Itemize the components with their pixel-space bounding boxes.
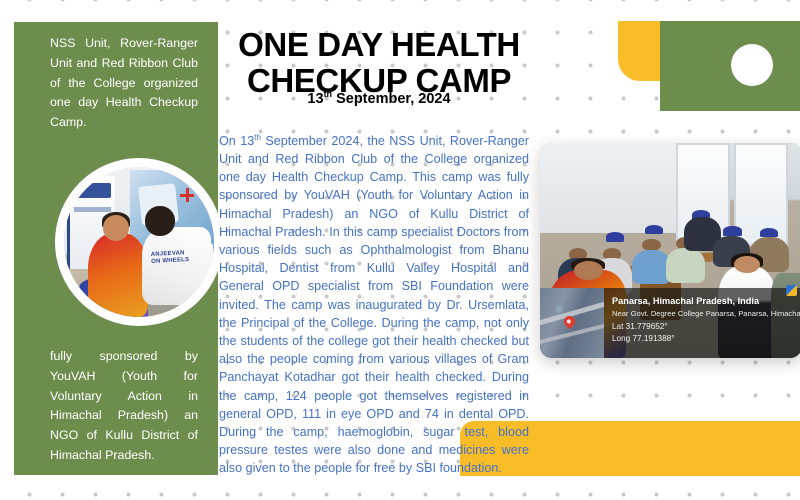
sidebar-summary-top: NSS Unit, Rover-Ranger Unit and Red Ribb…	[50, 34, 198, 133]
photo-person-body-4	[666, 248, 705, 283]
gps-place-name: Panarsa, Himachal Pradesh, India	[612, 295, 798, 308]
green-block-top-decoration	[660, 21, 800, 111]
event-date-number: 13	[307, 91, 323, 107]
gps-latitude: Lat 31.779652°	[612, 321, 798, 334]
body-date-ordinal: th	[254, 133, 261, 142]
photo-patient-upper	[88, 233, 148, 317]
photo-person-cap-1	[606, 232, 624, 241]
gps-map-thumbnail	[540, 288, 604, 358]
photo-person-cap-2	[645, 225, 663, 234]
page-title-line1: ONE DAY HEALTH	[215, 27, 543, 63]
photo-person-cap-5	[760, 228, 778, 237]
photo-front-woman-head	[574, 261, 603, 280]
red-cross-icon	[180, 188, 194, 202]
photo-person-cap-4	[723, 226, 741, 235]
body-main-text: September 2024, the NSS Unit, Rover-Rang…	[219, 134, 529, 476]
gps-longitude: Long 77.191388°	[612, 333, 798, 346]
classroom-photo-card: Panarsa, Himachal Pradesh, India Near Go…	[540, 143, 800, 358]
photo-banner-text: ANJEEVAN ON WHEELS	[151, 250, 190, 266]
photo-doctor-head	[145, 206, 175, 236]
event-date-ordinal: th	[324, 89, 333, 99]
poster-canvas: NSS Unit, Rover-Ranger Unit and Red Ribb…	[0, 0, 800, 500]
map-pin-icon	[562, 314, 578, 330]
body-date-number: 13	[240, 134, 254, 148]
photo-doctor-coat	[142, 227, 211, 305]
report-body-paragraph: On 13th September 2024, the NSS Unit, Ro…	[219, 129, 529, 478]
sidebar-summary-bottom: fully sponsored by YouVAH (Youth for Vol…	[50, 347, 198, 466]
gps-address: Near Govt. Degree College Panarsa, Panar…	[612, 308, 798, 321]
white-circle-decoration	[731, 44, 773, 86]
circular-photo-frame: ANJEEVAN ON WHEELS	[55, 158, 223, 326]
gps-camera-app-icon	[786, 285, 797, 296]
gps-stamp-overlay: Panarsa, Himachal Pradesh, India Near Go…	[540, 288, 800, 358]
gps-stamp-text: Panarsa, Himachal Pradesh, India Near Go…	[604, 288, 800, 358]
photo-patient-head	[103, 215, 129, 241]
event-date-subtitle: 13th September, 2024	[215, 89, 543, 107]
body-prefix: On	[219, 134, 240, 148]
event-date-rest: September, 2024	[332, 91, 451, 107]
clinic-checkup-photo: ANJEEVAN ON WHEELS	[64, 167, 214, 317]
